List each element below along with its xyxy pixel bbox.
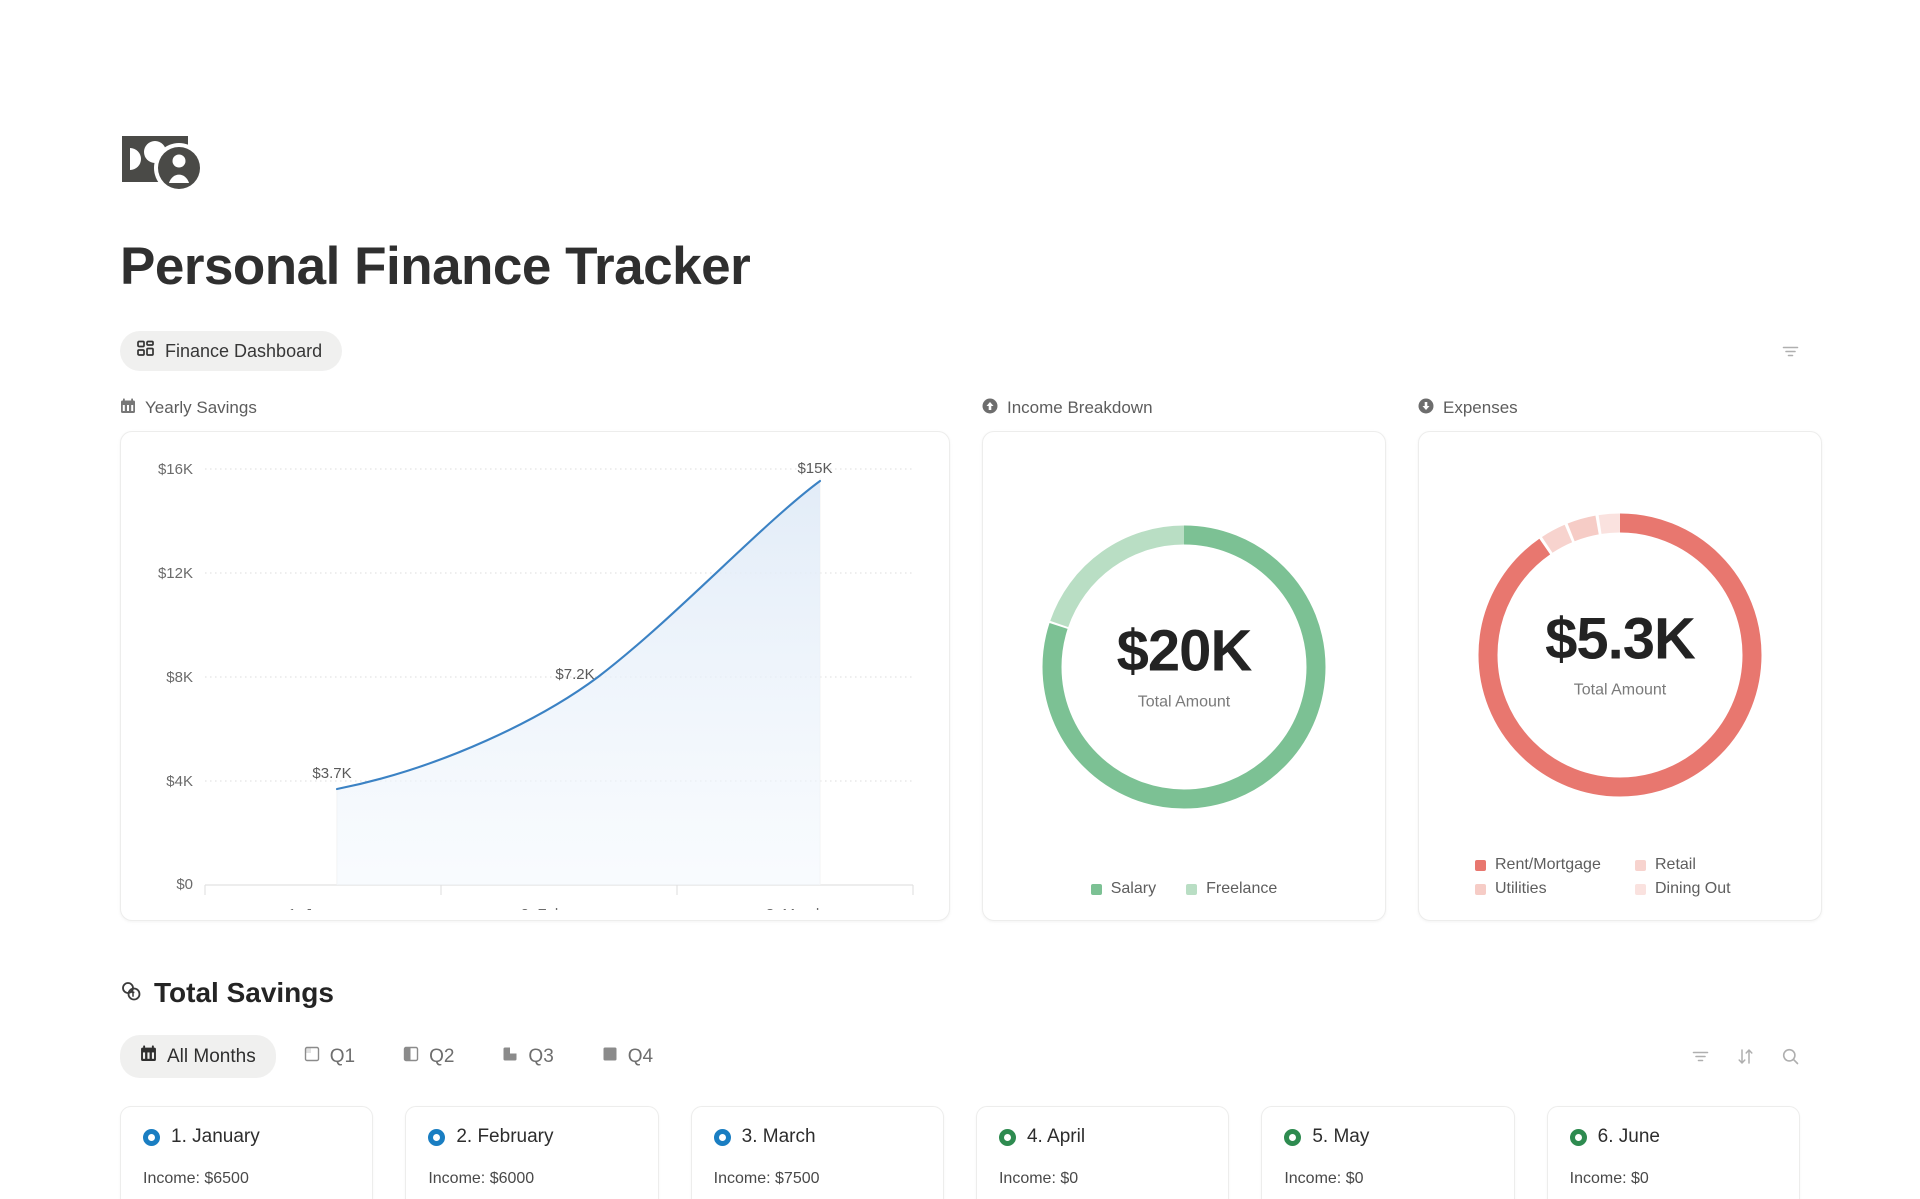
month-card-march[interactable]: 3. March Income: $7500: [691, 1106, 944, 1199]
svg-text:$8K: $8K: [166, 669, 193, 686]
svg-text:$7.2K: $7.2K: [555, 666, 594, 683]
arrow-up-circle-icon: [982, 398, 998, 419]
income-donut-chart: $20K Total Amount: [1001, 454, 1367, 880]
legend-label-utilities: Utilities: [1495, 880, 1547, 898]
month-card-header: 2. February: [428, 1126, 635, 1148]
month-name: 2. February: [456, 1126, 553, 1148]
svg-text:$3.7K: $3.7K: [312, 765, 351, 782]
legend-swatch-freelance: [1186, 884, 1197, 895]
tab-all-months-label: All Months: [167, 1046, 256, 1068]
total-savings-heading: Total Savings: [120, 977, 1800, 1009]
month-card-header: 5. May: [1284, 1126, 1491, 1148]
tab-q2-label: Q2: [429, 1046, 454, 1068]
month-card-header: 6. June: [1570, 1126, 1777, 1148]
month-name: 6. June: [1598, 1126, 1660, 1148]
month-card-header: 3. March: [714, 1126, 921, 1148]
month-income: Income: $6500: [143, 1170, 350, 1188]
month-income: Income: $0: [999, 1170, 1206, 1188]
legend-item-dining-out[interactable]: Dining Out: [1635, 880, 1765, 898]
total-savings-toolbar: [1691, 1047, 1800, 1066]
month-card-grid: 1. January Income: $6500 2. February Inc…: [120, 1106, 1800, 1199]
status-ring-icon: [1570, 1129, 1587, 1146]
month-card-january[interactable]: 1. January Income: $6500: [120, 1106, 373, 1199]
tab-finance-dashboard-label: Finance Dashboard: [165, 341, 322, 362]
yearly-savings-chart: $16K $12K $8K $4K $0: [143, 448, 927, 910]
month-card-header: 1. January: [143, 1126, 350, 1148]
status-ring-icon: [143, 1129, 160, 1146]
month-card-header: 4. April: [999, 1126, 1206, 1148]
arrow-down-circle-icon: [1418, 398, 1434, 419]
expenses-donut-chart: $5.3K Total Amount: [1437, 454, 1803, 856]
page-root: Personal Finance Tracker Finance Dashboa…: [0, 128, 1920, 1199]
panel-expenses: Expenses $5.3K Total Amount: [1418, 397, 1822, 921]
svg-text:$0: $0: [176, 876, 193, 893]
panel-expenses-label: Expenses: [1443, 398, 1518, 418]
quarter-2-icon: [403, 1046, 419, 1068]
legend-item-freelance[interactable]: Freelance: [1186, 880, 1277, 898]
coins-icon: [120, 977, 142, 1009]
panel-yearly-savings-label: Yearly Savings: [145, 398, 257, 418]
status-ring-icon: [428, 1129, 445, 1146]
dashboard-tab-row: Finance Dashboard: [120, 331, 1800, 371]
month-name: 1. January: [171, 1126, 260, 1148]
legend-label-rent-mortgage: Rent/Mortgage: [1495, 856, 1601, 874]
filter-icon[interactable]: [1781, 342, 1800, 361]
legend-item-retail[interactable]: Retail: [1635, 856, 1765, 874]
month-card-june[interactable]: 6. June Income: $0: [1547, 1106, 1800, 1199]
page-title: Personal Finance Tracker: [120, 236, 1800, 297]
tab-finance-dashboard[interactable]: Finance Dashboard: [120, 331, 342, 371]
tab-q1-label: Q1: [330, 1046, 355, 1068]
legend-swatch-salary: [1091, 884, 1102, 895]
total-savings-title: Total Savings: [154, 977, 334, 1009]
expenses-legend: Rent/Mortgage Retail Utilities Dining Ou…: [1455, 856, 1785, 902]
dashboard-grid-icon: [137, 340, 154, 362]
panel-expenses-header: Expenses: [1418, 397, 1822, 419]
quarter-tabs: All Months Q1 Q2: [120, 1035, 673, 1078]
svg-text:2. February: 2. February: [521, 906, 598, 910]
svg-text:$4K: $4K: [166, 773, 193, 790]
legend-item-salary[interactable]: Salary: [1091, 880, 1156, 898]
expenses-donut-card: $5.3K Total Amount Rent/Mortgage Retail: [1418, 431, 1822, 921]
month-income: Income: $0: [1570, 1170, 1777, 1188]
month-income: Income: $7500: [714, 1170, 921, 1188]
panel-yearly-savings-header: Yearly Savings: [120, 397, 950, 419]
calendar-icon: [140, 1045, 157, 1068]
legend-item-rent-mortgage[interactable]: Rent/Mortgage: [1475, 856, 1605, 874]
search-icon[interactable]: [1781, 1047, 1800, 1066]
quarter-1-icon: [304, 1046, 320, 1068]
month-card-may[interactable]: 5. May Income: $0: [1261, 1106, 1514, 1199]
tab-q1[interactable]: Q1: [284, 1036, 375, 1078]
panel-yearly-savings: Yearly Savings $16K $12K $8K $4K $0: [120, 397, 950, 921]
quarter-3-icon: [502, 1046, 518, 1068]
svg-text:$15K: $15K: [797, 460, 832, 477]
panel-income-breakdown: Income Breakdown $20K Total Amount: [982, 397, 1386, 921]
calendar-icon: [120, 398, 136, 419]
month-name: 4. April: [1027, 1126, 1085, 1148]
panel-income-breakdown-header: Income Breakdown: [982, 397, 1386, 419]
month-income: Income: $6000: [428, 1170, 635, 1188]
income-legend: Salary Freelance: [1091, 880, 1278, 902]
tab-q3-label: Q3: [528, 1046, 553, 1068]
tab-all-months[interactable]: All Months: [120, 1035, 276, 1078]
total-savings-tab-row: All Months Q1 Q2: [120, 1035, 1800, 1078]
tab-q4[interactable]: Q4: [582, 1036, 673, 1078]
tab-q2[interactable]: Q2: [383, 1036, 474, 1078]
status-ring-icon: [714, 1129, 731, 1146]
legend-label-dining-out: Dining Out: [1655, 880, 1731, 898]
month-name: 5. May: [1312, 1126, 1369, 1148]
legend-swatch-rent-mortgage: [1475, 860, 1486, 871]
svg-text:$12K: $12K: [158, 565, 193, 582]
legend-label-salary: Salary: [1111, 880, 1156, 898]
panel-income-breakdown-label: Income Breakdown: [1007, 398, 1153, 418]
income-donut-card: $20K Total Amount Salary Freelance: [982, 431, 1386, 921]
legend-label-retail: Retail: [1655, 856, 1696, 874]
sort-icon[interactable]: [1736, 1047, 1755, 1066]
status-ring-icon: [999, 1129, 1016, 1146]
month-income: Income: $0: [1284, 1170, 1491, 1188]
svg-text:1. January: 1. January: [288, 906, 359, 910]
legend-swatch-retail: [1635, 860, 1646, 871]
legend-swatch-dining-out: [1635, 884, 1646, 895]
legend-item-utilities[interactable]: Utilities: [1475, 880, 1605, 898]
tab-q4-label: Q4: [628, 1046, 653, 1068]
svg-text:$16K: $16K: [158, 461, 193, 478]
svg-text:3. March: 3. March: [766, 906, 824, 910]
filter-icon[interactable]: [1691, 1047, 1710, 1066]
dashboard-grid: Yearly Savings $16K $12K $8K $4K $0: [120, 397, 1800, 921]
legend-label-freelance: Freelance: [1206, 880, 1277, 898]
quarter-4-icon: [602, 1046, 618, 1068]
month-card-february[interactable]: 2. February Income: $6000: [405, 1106, 658, 1199]
month-card-april[interactable]: 4. April Income: $0: [976, 1106, 1229, 1199]
legend-swatch-utilities: [1475, 884, 1486, 895]
tab-q3[interactable]: Q3: [482, 1036, 573, 1078]
status-ring-icon: [1284, 1129, 1301, 1146]
yearly-savings-chart-card: $16K $12K $8K $4K $0: [120, 431, 950, 921]
month-name: 3. March: [742, 1126, 816, 1148]
money-person-icon: [120, 128, 220, 196]
